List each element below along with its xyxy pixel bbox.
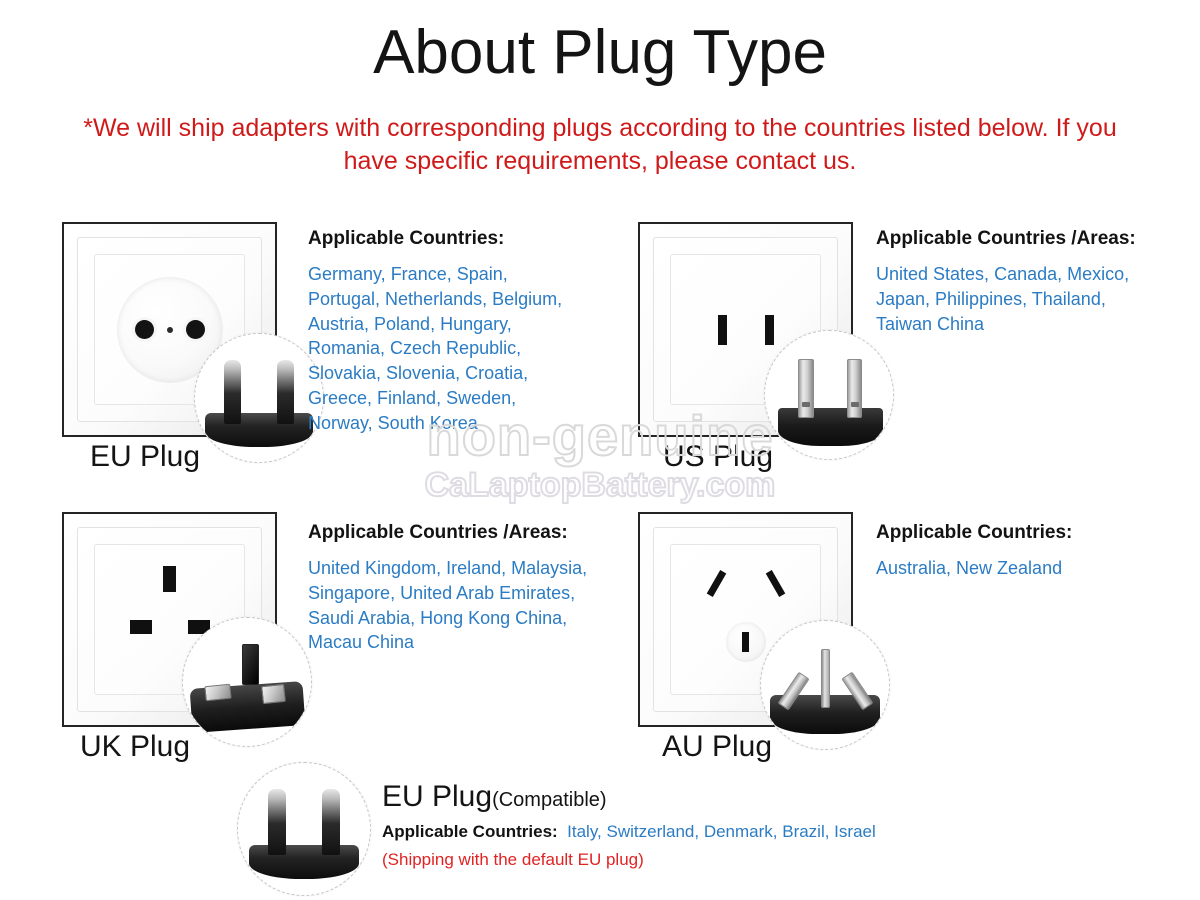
plug-label-us: US Plug: [663, 440, 773, 474]
country-heading-eu: Applicable Countries:: [308, 228, 578, 250]
plug-label-eu: EU Plug: [90, 440, 200, 474]
compatible-heading: Applicable Countries:: [382, 822, 558, 841]
compatible-country-list: Italy, Switzerland, Denmark, Brazil, Isr…: [567, 822, 876, 841]
plug-label-uk: UK Plug: [80, 730, 190, 764]
country-column-us: Applicable Countries /Areas: United Stat…: [876, 228, 1161, 336]
au-plug-icon: [760, 620, 890, 750]
country-heading-au: Applicable Countries:: [876, 522, 1161, 544]
eu-plug-icon: [194, 333, 324, 463]
country-list-us: United States, Canada, Mexico, Japan, Ph…: [876, 262, 1161, 336]
country-list-uk: United Kingdom, Ireland, Malaysia, Singa…: [308, 556, 608, 655]
compatible-title: EU Plug(Compatible): [382, 780, 607, 814]
country-list-eu: Germany, France, Spain, Portugal, Nether…: [308, 262, 578, 436]
country-heading-uk: Applicable Countries /Areas:: [308, 522, 608, 544]
page-title: About Plug Type: [0, 22, 1200, 84]
compatible-countries-line: Applicable Countries: Italy, Switzerland…: [382, 822, 876, 842]
compatible-title-main: EU Plug: [382, 780, 492, 813]
country-column-au: Applicable Countries: Australia, New Zea…: [876, 522, 1161, 581]
uk-plug-icon: [182, 617, 312, 747]
country-list-au: Australia, New Zealand: [876, 556, 1161, 581]
us-plug-icon: [764, 330, 894, 460]
country-column-uk: Applicable Countries /Areas: United King…: [308, 522, 608, 655]
country-column-eu: Applicable Countries: Germany, France, S…: [308, 228, 578, 436]
compatible-shipping-note: (Shipping with the default EU plug): [382, 850, 644, 870]
country-heading-us: Applicable Countries /Areas:: [876, 228, 1161, 250]
compatible-title-suffix: (Compatible): [492, 789, 606, 811]
eu-compatible-plug-icon: [237, 762, 371, 896]
plug-label-au: AU Plug: [662, 730, 772, 764]
shipping-note: *We will ship adapters with correspondin…: [60, 112, 1140, 178]
